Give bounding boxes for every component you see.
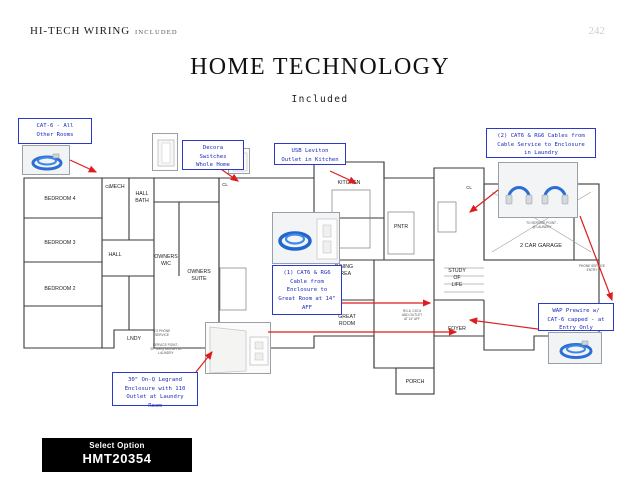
room-label-hall: HALL: [109, 252, 122, 258]
room-label-kitchen: KITCHEN: [338, 180, 361, 186]
room-label-pantry: PNTR: [394, 224, 408, 230]
annotation-phone-entry-2: ENTRY: [587, 268, 599, 272]
room-label-study-2: OF: [453, 275, 460, 281]
callout-cat6-rg6-great-room: (1) CAT6 & RG6 Cable from Enclosure to G…: [272, 265, 342, 315]
select-option-box[interactable]: Select Option HMT20354: [42, 438, 192, 472]
callout-cat6-all-other-rooms: CAT-6 - All Other Rooms: [18, 118, 92, 144]
room-label-owners-wic-1: OWNERS: [154, 254, 178, 260]
brand-subtitle: INCLUDED: [135, 29, 178, 36]
room-label-closet-3: CL: [466, 185, 472, 190]
annotation-great-room-3: AT 14" AFF: [404, 317, 420, 321]
photo-cat6-cable-coil: [22, 145, 70, 175]
room-label-owners-suite-2: SUITE: [191, 276, 207, 282]
room-label-study-3: LIFE: [452, 282, 463, 288]
annotation-phone-service-2: SERVICE: [155, 333, 169, 337]
select-option-label: Select Option: [42, 441, 192, 450]
room-label-study-1: STUDY: [448, 268, 466, 274]
room-label-bedroom-2: BEDROOM 2: [44, 286, 75, 292]
callout-onq-legrand-enclosure: 30" On-Q Legrand Enclosure with 110 Outl…: [112, 372, 198, 406]
photo-legrand-enclosure: [205, 322, 271, 374]
room-label-bedroom-3: BEDROOM 3: [44, 240, 75, 246]
room-label-bedroom-4: BEDROOM 4: [44, 196, 75, 202]
photo-cat6-rg6-cables: [498, 162, 578, 218]
room-label-owners-suite-1: OWNERS: [187, 269, 211, 275]
room-label-foyer: FOYER: [448, 326, 466, 332]
room-label-porch: PORCH: [406, 379, 425, 385]
room-label-laundry: LNDY: [127, 336, 141, 342]
page-number: 242: [589, 25, 606, 37]
photo-wap-cable-coil: [548, 332, 602, 364]
photo-decora-switch-plate: [152, 133, 178, 171]
room-label-great-room-2: ROOM: [339, 321, 355, 327]
room-label-mech: MECH: [109, 184, 125, 190]
callout-cat6-rg6-cable-service: (2) CAT6 & RG6 Cables from Cable Service…: [486, 128, 596, 158]
callout-wap-prewire-entry: WAP Prewire w/ CAT-6 capped - at Entry O…: [538, 303, 614, 331]
page-subtitle: Included: [0, 94, 640, 105]
page-title: HOME TECHNOLOGY: [0, 54, 640, 81]
room-label-hall-bath-2: BATH: [135, 198, 149, 204]
brand-title: HI-TECH WIRING: [30, 25, 130, 37]
annotation-garage-2: @ LAUNDRY: [532, 225, 552, 229]
room-label-closet-1: CL: [105, 184, 111, 189]
select-option-value: HMT20354: [42, 451, 192, 466]
photo-great-room-cable-outlet: [272, 212, 340, 264]
callout-usb-leviton-outlet: USB Leviton Outlet in Kitchen: [274, 143, 346, 165]
room-label-garage: 2 CAR GARAGE: [520, 243, 562, 249]
callout-decora-switches: Decora Switches Whole Home: [182, 140, 244, 170]
room-label-hall-bath-1: HALL: [136, 191, 149, 197]
annotation-laundry-3: LAUNDRY: [158, 351, 174, 355]
page-root: HI-TECH WIRING INCLUDED 242 HOME TECHNOL…: [0, 0, 640, 478]
room-label-owners-wic-2: WIC: [161, 261, 171, 267]
room-label-closet-2: CL: [222, 182, 228, 187]
